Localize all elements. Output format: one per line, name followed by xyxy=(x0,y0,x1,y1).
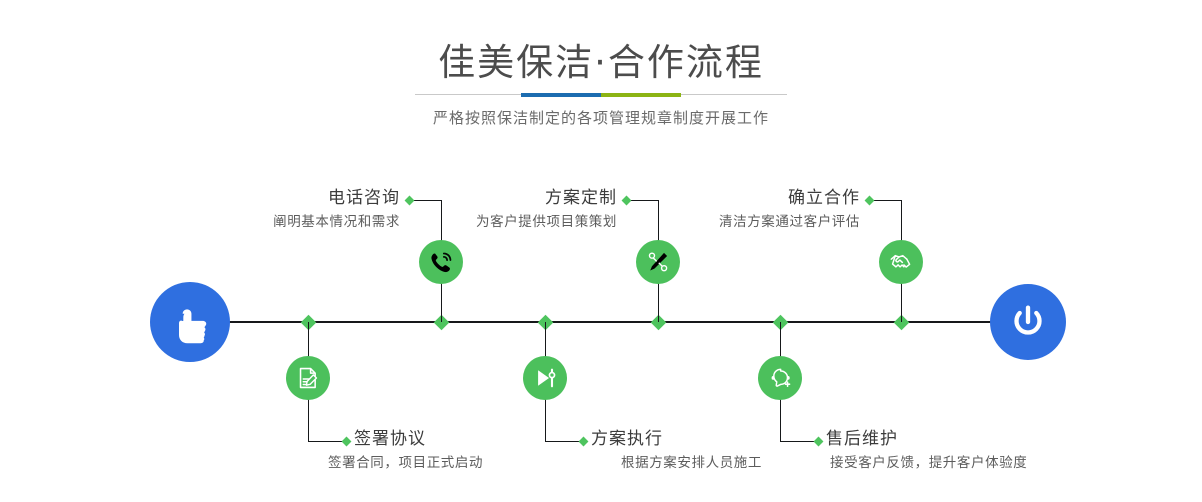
connector-endpoint-marker xyxy=(404,195,414,205)
page-subtitle: 严格按照保洁制定的各项管理规章制度开展工作 xyxy=(0,106,1202,130)
step-icon-play-execute-icon xyxy=(523,356,567,400)
connector-endpoint-marker xyxy=(341,436,351,446)
connector-endpoint-marker xyxy=(813,436,823,446)
step-title: 签署协议 xyxy=(354,428,426,450)
end-endpoint-power-button-icon xyxy=(990,284,1066,360)
connector-endpoint-marker xyxy=(864,195,874,205)
step-icon-handshake-icon xyxy=(879,240,923,284)
connector-endpoint-marker xyxy=(578,436,588,446)
step-title: 确立合作 xyxy=(788,187,860,209)
page-title: 佳美保洁·合作流程 xyxy=(0,40,1202,86)
flow-diagram-canvas: 佳美保洁·合作流程 严格按照保洁制定的各项管理规章制度开展工作 xyxy=(0,0,1202,502)
step-title: 售后维护 xyxy=(826,428,898,450)
step-description: 根据方案安排人员施工 xyxy=(621,453,762,473)
divider-segment-green xyxy=(601,93,681,97)
title-divider xyxy=(415,93,787,97)
step-title: 电话咨询 xyxy=(328,187,400,209)
step-icon-document-edit-icon xyxy=(286,356,330,400)
step-title: 方案定制 xyxy=(545,187,617,209)
step-description: 阐明基本情况和需求 xyxy=(273,212,400,232)
step-title: 方案执行 xyxy=(591,428,663,450)
step-description: 接受客户反馈，提升客户体验度 xyxy=(830,453,1027,473)
connector-endpoint-marker xyxy=(621,195,631,205)
start-endpoint-pointing-hand-icon xyxy=(150,282,230,362)
step-description: 清洁方案通过客户评估 xyxy=(719,212,860,232)
step-description: 签署合同，项目正式启动 xyxy=(328,453,483,473)
step-description: 为客户提供项目策策划 xyxy=(476,212,617,232)
step-icon-headset-support-icon xyxy=(758,356,802,400)
divider-segment-blue xyxy=(521,93,601,97)
step-icon-phone-call-icon xyxy=(419,240,463,284)
step-icon-pencil-design-icon xyxy=(636,240,680,284)
